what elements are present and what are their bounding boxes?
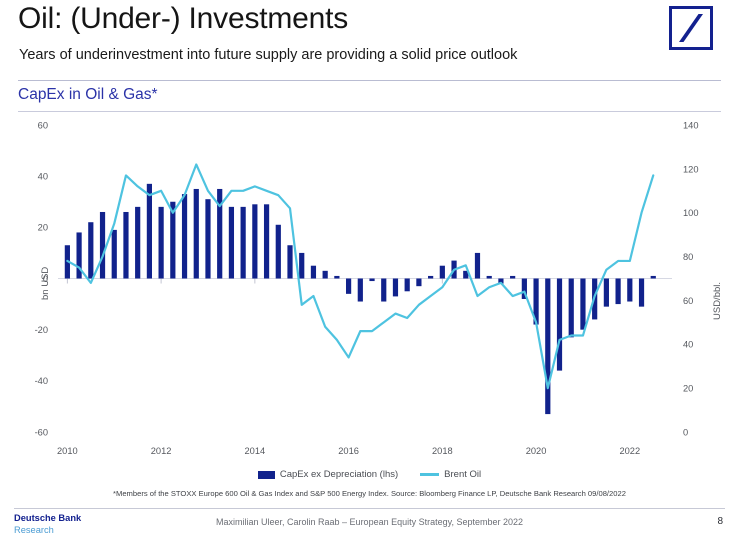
bar xyxy=(182,194,187,278)
bar xyxy=(311,266,316,279)
y-axis-right-tick: 120 xyxy=(683,164,699,174)
x-axis-tick-label: 2014 xyxy=(245,446,266,456)
bar xyxy=(334,276,339,279)
bar xyxy=(194,189,199,279)
y-axis-left-tick: 60 xyxy=(38,120,48,130)
chart-title: CapEx in Oil & Gas* xyxy=(18,86,158,104)
chart-legend: CapEx ex Depreciation (lhs) Brent Oil xyxy=(0,469,739,480)
bar xyxy=(569,279,574,338)
y-axis-left-tick: -40 xyxy=(35,376,48,386)
bar xyxy=(639,279,644,307)
bar xyxy=(276,225,281,279)
y-axis-right-tick: 40 xyxy=(683,340,693,350)
bar xyxy=(545,279,550,415)
y-axis-left-tick: 20 xyxy=(38,223,48,233)
bar xyxy=(557,279,562,371)
deutsche-bank-logo xyxy=(669,6,713,50)
y-axis-right-tick: 100 xyxy=(683,208,699,218)
y-axis-right-tick: 80 xyxy=(683,252,693,262)
bar xyxy=(487,276,492,279)
capex-brent-chart: 6040200-20-40-60140120100806040200201020… xyxy=(0,112,739,462)
bar xyxy=(159,207,164,279)
bar xyxy=(123,212,128,279)
brent-oil-line xyxy=(67,164,653,388)
bar xyxy=(615,279,620,305)
footer-authors: Maximilian Uleer, Carolin Raab – Europea… xyxy=(0,517,739,527)
x-axis-tick-label: 2018 xyxy=(432,446,453,456)
bar xyxy=(205,199,210,278)
bar xyxy=(358,279,363,302)
bar xyxy=(405,279,410,292)
bar xyxy=(88,222,93,278)
bar xyxy=(112,230,117,279)
bar xyxy=(229,207,234,279)
bar xyxy=(440,266,445,279)
y-axis-right-tick: 0 xyxy=(683,427,688,437)
page-subtitle: Years of underinvestment into future sup… xyxy=(19,47,517,63)
bar xyxy=(416,279,421,287)
x-axis-tick-label: 2012 xyxy=(151,446,172,456)
footer-divider xyxy=(14,508,725,509)
legend-item-capex: CapEx ex Depreciation (lhs) xyxy=(258,469,398,480)
bar xyxy=(510,276,515,279)
bar xyxy=(299,253,304,279)
bar xyxy=(651,276,656,279)
bar xyxy=(580,279,585,330)
legend-label-brent: Brent Oil xyxy=(444,469,481,480)
bar xyxy=(428,276,433,279)
footer-page-number: 8 xyxy=(717,516,723,527)
bar xyxy=(135,207,140,279)
bar xyxy=(381,279,386,302)
x-axis-tick-label: 2020 xyxy=(526,446,547,456)
bar xyxy=(147,184,152,279)
y-axis-left-title: bn USD xyxy=(40,267,51,300)
legend-item-brent: Brent Oil xyxy=(420,469,481,480)
y-axis-right-tick: 20 xyxy=(683,384,693,394)
y-axis-left-tick: -60 xyxy=(35,427,48,437)
x-axis-tick-label: 2022 xyxy=(619,446,640,456)
y-axis-left-tick: -20 xyxy=(35,325,48,335)
bar xyxy=(475,253,480,279)
bar xyxy=(369,279,374,282)
bar xyxy=(287,245,292,278)
bar xyxy=(100,212,105,279)
bar xyxy=(323,271,328,279)
header-divider xyxy=(18,80,721,81)
bar xyxy=(264,204,269,278)
bar xyxy=(604,279,609,307)
chart-footnote: *Members of the STOXX Europe 600 Oil & G… xyxy=(0,489,739,498)
slide: Oil: (Under-) Investments Years of under… xyxy=(0,0,739,545)
legend-swatch-bar xyxy=(258,471,275,479)
y-axis-left-tick: 40 xyxy=(38,172,48,182)
y-axis-right-tick: 140 xyxy=(683,120,699,130)
y-axis-right-title: USD/bbl. xyxy=(712,282,723,320)
x-axis-tick-label: 2010 xyxy=(57,446,78,456)
x-axis-tick-label: 2016 xyxy=(338,446,359,456)
page-title: Oil: (Under-) Investments xyxy=(18,2,348,36)
bar xyxy=(393,279,398,297)
bar xyxy=(627,279,632,302)
bar xyxy=(241,207,246,279)
bar xyxy=(252,204,257,278)
bar xyxy=(346,279,351,294)
y-axis-right-tick: 60 xyxy=(683,296,693,306)
legend-label-capex: CapEx ex Depreciation (lhs) xyxy=(280,469,398,480)
chart-plot-area: 6040200-20-40-60140120100806040200201020… xyxy=(0,112,739,462)
legend-swatch-line xyxy=(420,473,439,476)
